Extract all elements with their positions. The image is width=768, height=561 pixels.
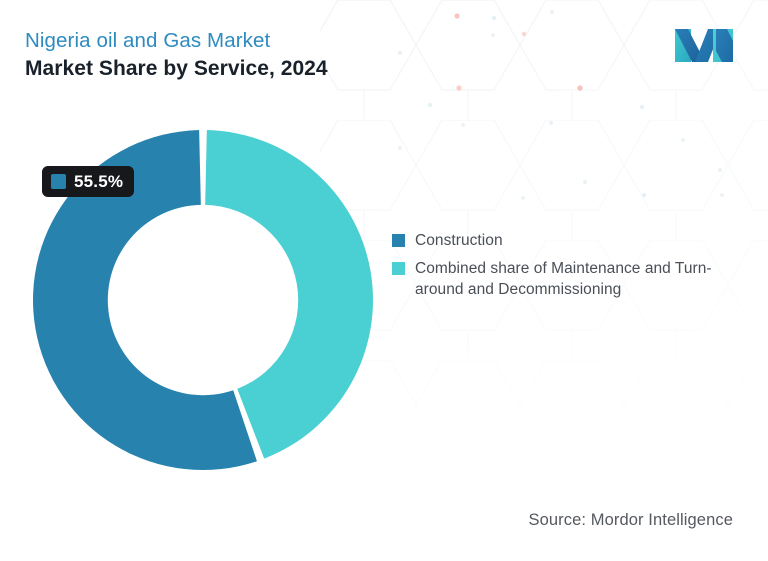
tooltip-value-label: 55.5% <box>74 172 123 192</box>
chart-infographic: Nigeria oil and Gas Market Market Share … <box>0 0 768 561</box>
page-title: Nigeria oil and Gas Market <box>25 28 328 53</box>
tooltip-color-swatch <box>51 174 66 189</box>
page-subtitle: Market Share by Service, 2024 <box>25 55 328 82</box>
legend-item-construction[interactable]: Construction <box>392 230 752 252</box>
legend-item-combined-maintenance[interactable]: Combined share of Maintenance and Turn-a… <box>392 258 752 301</box>
source-attribution: Source: Mordor Intelligence <box>529 511 733 530</box>
data-label-tooltip: 55.5% <box>42 166 134 197</box>
chart-header: Nigeria oil and Gas Market Market Share … <box>25 28 328 82</box>
mordor-intelligence-logo-icon <box>675 29 733 62</box>
legend-label-combined-maintenance: Combined share of Maintenance and Turn-a… <box>415 258 752 301</box>
chart-legend: Construction Combined share of Maintenan… <box>392 230 752 307</box>
legend-color-swatch-combined-maintenance <box>392 262 405 275</box>
legend-color-swatch-construction <box>392 234 405 247</box>
legend-label-construction: Construction <box>415 230 503 252</box>
